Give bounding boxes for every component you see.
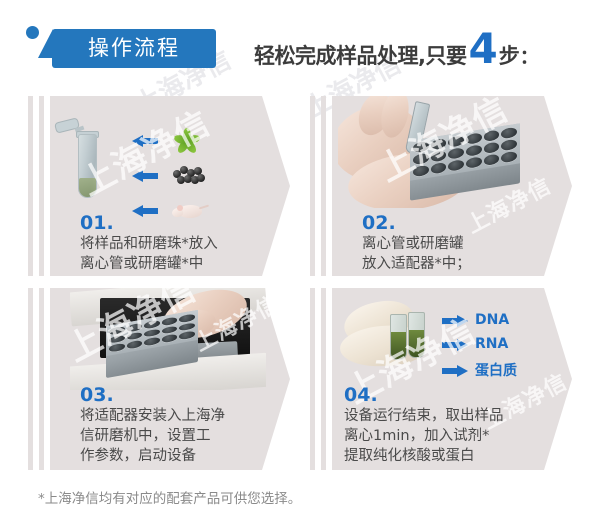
arrow-left-icon <box>132 135 158 146</box>
step-line: 将样品和研磨珠*放入 <box>80 234 218 254</box>
plant-leaf-icon <box>172 126 202 154</box>
sample-tube-icon <box>390 314 407 360</box>
step-card-3[interactable]: 上海净信 上海净信 03. 将适配器安装入上海净 信研磨机中，设置工 作参数，启… <box>28 288 290 470</box>
step-number-4: 04. <box>344 384 378 406</box>
arrow-right-icon <box>442 339 468 350</box>
card-stripe-inner <box>39 288 44 470</box>
step-card-4[interactable]: DNA RNA 蛋白质 上海净信 上海净信 04. 设备运行结束，取出样品 离心… <box>310 288 572 470</box>
step-text-4: 设备运行结束，取出样品 离心1min，加入试剂* 提取纯化核酸或蛋白 <box>344 406 504 466</box>
output-row-protein: 蛋白质 <box>442 360 517 380</box>
centrifuge-tube-icon <box>72 120 102 198</box>
input-row-mouse <box>132 200 206 220</box>
step-line: 信研磨机中，设置工 <box>80 426 225 446</box>
step-text-1: 将样品和研磨珠*放入 离心管或研磨罐*中 <box>80 234 218 274</box>
headline-mid: 只要 <box>425 40 466 70</box>
headline: 轻松完成样品处理 , 只要 4 步 ： <box>254 32 539 70</box>
card-stripe-outer <box>28 288 33 470</box>
input-row-plant <box>132 126 202 154</box>
footer-note: *上海净信均有对应的配套产品可供您选择。 <box>38 487 301 507</box>
step-number-3: 03. <box>80 384 114 406</box>
step-line: 离心1min，加入试剂* <box>344 426 504 446</box>
card-4-body: DNA RNA 蛋白质 上海净信 上海净信 04. 设备运行结束，取出样品 离心… <box>332 288 572 470</box>
step-line: 将适配器安装入上海净 <box>80 406 225 426</box>
card-3-body: 上海净信 上海净信 03. 将适配器安装入上海净 信研磨机中，设置工 作参数，启… <box>50 288 290 470</box>
output-row-dna: DNA <box>442 312 509 328</box>
card-1-body: 上海净信 01. 将样品和研磨珠*放入 离心管或研磨罐*中 <box>50 96 290 276</box>
adapter-block-icon <box>410 123 520 200</box>
banner-title: 操作流程 <box>52 29 216 68</box>
sample-tubes-photo <box>340 292 450 388</box>
headline-colon: ： <box>520 42 539 69</box>
grinding-beads-icon <box>172 164 204 186</box>
headline-prefix: 轻松完成样品处理 <box>254 40 418 70</box>
grinder-machine-photo <box>70 288 266 390</box>
sample-tube-icon <box>408 312 425 358</box>
step-text-2: 离心管或研磨罐 放入适配器*中； <box>362 234 471 274</box>
arrow-right-icon <box>442 365 468 376</box>
step-line: 提取纯化核酸或蛋白 <box>344 446 504 466</box>
step-line: 设备运行结束，取出样品 <box>344 406 504 426</box>
output-label-rna: RNA <box>475 336 508 352</box>
output-label-protein: 蛋白质 <box>475 360 517 380</box>
step-line: 离心管或研磨罐 <box>362 234 471 254</box>
arrow-left-icon <box>132 170 158 181</box>
step-text-3: 将适配器安装入上海净 信研磨机中，设置工 作参数，启动设备 <box>80 406 225 466</box>
step-card-1[interactable]: 上海净信 01. 将样品和研磨珠*放入 离心管或研磨罐*中 <box>28 96 290 276</box>
step-line: 放入适配器*中； <box>362 254 471 274</box>
card-stripe-outer <box>310 96 315 276</box>
headline-comma: , <box>418 44 425 68</box>
output-row-rna: RNA <box>442 336 508 352</box>
step-card-2[interactable]: 上海净信 上海净信 02. 离心管或研磨罐 放入适配器*中； <box>310 96 572 276</box>
arrow-left-icon <box>132 205 158 216</box>
input-row-beads <box>132 164 204 186</box>
header: 上海净信 上海净信 操作流程 轻松完成样品处理 , 只要 4 步 ： <box>0 0 600 90</box>
tube-liquid-icon <box>79 178 96 197</box>
adapter-loading-photo <box>338 96 538 208</box>
process-flow-infographic: 上海净信 上海净信 操作流程 轻松完成样品处理 , 只要 4 步 ： <box>0 0 600 526</box>
adapter-holes-grid <box>410 123 520 180</box>
card-stripe-inner <box>321 96 326 276</box>
headline-step-count: 4 <box>468 32 497 66</box>
step-line: 作参数，启动设备 <box>80 446 225 466</box>
mouse-icon <box>172 200 206 220</box>
arrow-right-icon <box>442 315 468 326</box>
card-stripe-inner <box>321 288 326 470</box>
banner-tail-icon <box>38 29 53 58</box>
headline-suffix: 步 <box>499 40 520 70</box>
card-2-body: 上海净信 上海净信 02. 离心管或研磨罐 放入适配器*中； <box>332 96 572 276</box>
card-stripe-inner <box>39 96 44 276</box>
card-stripe-outer <box>28 96 33 276</box>
step-number-2: 02. <box>362 212 396 234</box>
card-stripe-outer <box>310 288 315 470</box>
step-number-1: 01. <box>80 212 114 234</box>
step-line: 离心管或研磨罐*中 <box>80 254 218 274</box>
output-label-dna: DNA <box>475 312 509 328</box>
